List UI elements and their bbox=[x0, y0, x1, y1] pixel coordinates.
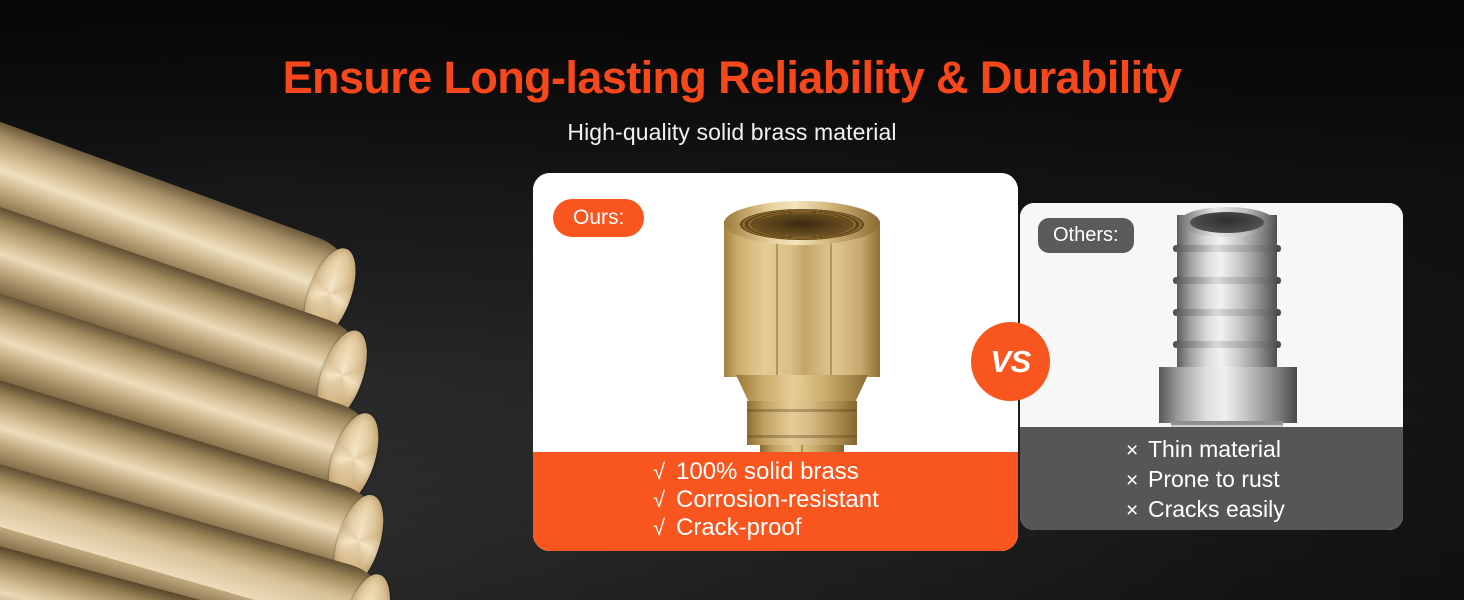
ours-card: Ours: √100% solid brass √Corrosion-resis… bbox=[533, 173, 1018, 551]
vs-badge: VS bbox=[971, 322, 1050, 401]
feature-label: 100% solid brass bbox=[676, 458, 859, 485]
list-item: ×Prone to rust bbox=[1126, 465, 1403, 495]
list-item: √100% solid brass bbox=[653, 458, 1018, 486]
ours-badge: Ours: bbox=[553, 199, 644, 237]
drawback-label: Prone to rust bbox=[1148, 466, 1280, 492]
steel-fitting-illustration bbox=[1163, 203, 1293, 451]
drawback-label: Thin material bbox=[1148, 436, 1281, 462]
others-drawbacks-list: ×Thin material ×Prone to rust ×Cracks ea… bbox=[1020, 427, 1403, 530]
ours-features-list: √100% solid brass √Corrosion-resistant √… bbox=[533, 452, 1018, 551]
cross-icon: × bbox=[1126, 437, 1148, 465]
check-icon: √ bbox=[653, 458, 676, 486]
check-icon: √ bbox=[653, 514, 676, 542]
page-subheadline: High-quality solid brass material bbox=[0, 119, 1464, 146]
list-item: √Crack-proof bbox=[653, 514, 1018, 542]
others-card: Others: ×Thin material ×Prone to rust ×C… bbox=[1020, 203, 1403, 530]
list-item: ×Cracks easily bbox=[1126, 495, 1403, 525]
drawback-label: Cracks easily bbox=[1148, 496, 1285, 522]
page-headline: Ensure Long-lasting Reliability & Durabi… bbox=[0, 52, 1464, 104]
cross-icon: × bbox=[1126, 497, 1148, 525]
list-item: √Corrosion-resistant bbox=[653, 486, 1018, 514]
cross-icon: × bbox=[1126, 467, 1148, 495]
others-badge: Others: bbox=[1038, 218, 1134, 253]
feature-label: Corrosion-resistant bbox=[676, 486, 879, 513]
feature-label: Crack-proof bbox=[676, 514, 801, 541]
check-icon: √ bbox=[653, 486, 676, 514]
list-item: ×Thin material bbox=[1126, 435, 1403, 465]
